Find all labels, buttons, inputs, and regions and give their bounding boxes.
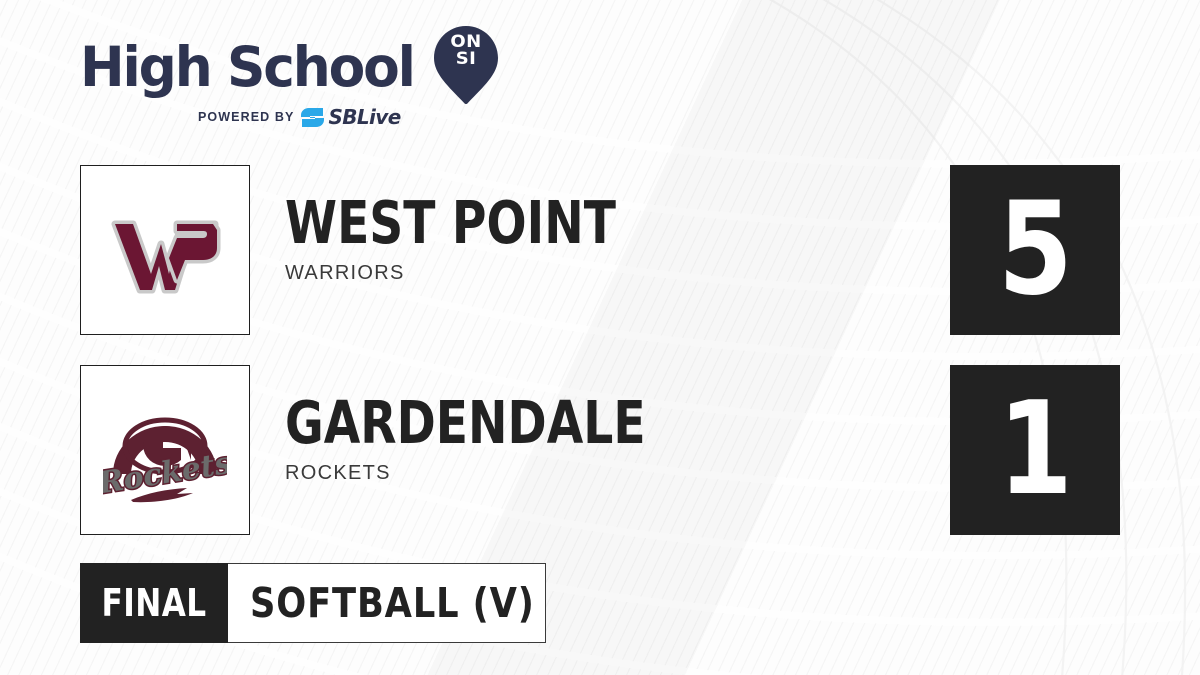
game-state-label: FINAL (102, 581, 207, 625)
team-logo-box: Rockets (80, 365, 250, 535)
west-point-wp-monogram-logo (103, 188, 227, 312)
team-name: GARDENDALE (285, 395, 781, 450)
team-info: GARDENDALE ROCKETS (285, 395, 905, 485)
gardendale-g-rockets-logo: Rockets (103, 388, 227, 512)
score-value: 5 (998, 186, 1071, 314)
team-mascot: ROCKETS (285, 462, 905, 485)
team-info: WEST POINT WARRIORS (285, 195, 905, 285)
sport-box: SOFTBALL (V) (228, 563, 546, 643)
sblive-logo: SBLive (301, 107, 400, 127)
powered-by-label: POWERED BY (198, 110, 294, 124)
map-pin-label: ON SI (432, 34, 500, 68)
game-state-box: FINAL (80, 563, 228, 643)
score-box: 1 (950, 365, 1120, 535)
game-status-bar: FINAL SOFTBALL (V) (80, 563, 546, 643)
score-value: 1 (998, 386, 1071, 514)
brand-wordmark: High School (80, 40, 414, 95)
sport-label: SOFTBALL (V) (250, 579, 535, 627)
brand-header: High School ON SI POWERED BY SBLive (80, 33, 550, 133)
team-row: WEST POINT WARRIORS 5 (80, 165, 1120, 335)
team-logo-box (80, 165, 250, 335)
map-pin-icon: ON SI (434, 26, 498, 104)
team-name: WEST POINT (285, 195, 781, 250)
pin-line-si: SI (432, 51, 500, 68)
sblive-bolt-icon (301, 108, 325, 127)
score-box: 5 (950, 165, 1120, 335)
sblive-wordmark: SBLive (328, 107, 400, 127)
team-mascot: WARRIORS (285, 262, 905, 285)
team-row: Rockets GARDENDALE ROCKETS 1 (80, 365, 1120, 535)
powered-by-lockup: POWERED BY SBLive (198, 107, 550, 127)
brand-lockup: High School ON SI (80, 33, 550, 101)
